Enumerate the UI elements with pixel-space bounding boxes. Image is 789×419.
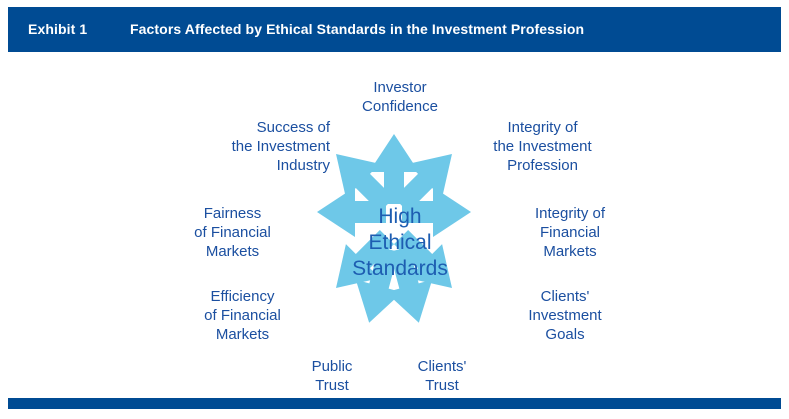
node-label-investor-confidence: Investor Confidence — [320, 78, 480, 116]
node-label-efficiency-of-financial-markets: Efficiency of Financial Markets — [170, 287, 315, 344]
node-label-success-of-the-investment-industry: Success of the Investment Industry — [175, 118, 330, 175]
node-label-integrity-of-financial-markets: Integrity of Financial Markets — [495, 204, 645, 261]
node-label-public-trust: Public Trust — [282, 357, 382, 395]
exhibit-container: Exhibit 1 Factors Affected by Ethical St… — [0, 0, 789, 419]
node-label-fairness-of-financial-markets: Fairness of Financial Markets — [160, 204, 305, 261]
exhibit-header-bar: Exhibit 1 Factors Affected by Ethical St… — [8, 7, 781, 52]
exhibit-footer-bar — [8, 398, 781, 409]
radial-diagram: High Ethical Standards Investor Confiden… — [0, 52, 789, 398]
exhibit-number: Exhibit 1 — [28, 21, 87, 37]
center-hub-label: High Ethical Standards — [330, 204, 470, 282]
node-label-clients-investment-goals: Clients' Investment Goals — [490, 287, 640, 344]
exhibit-title: Factors Affected by Ethical Standards in… — [130, 21, 584, 37]
node-label-integrity-of-the-investment-profession: Integrity of the Investment Profession — [460, 118, 625, 175]
node-label-clients-trust: Clients' Trust — [392, 357, 492, 395]
